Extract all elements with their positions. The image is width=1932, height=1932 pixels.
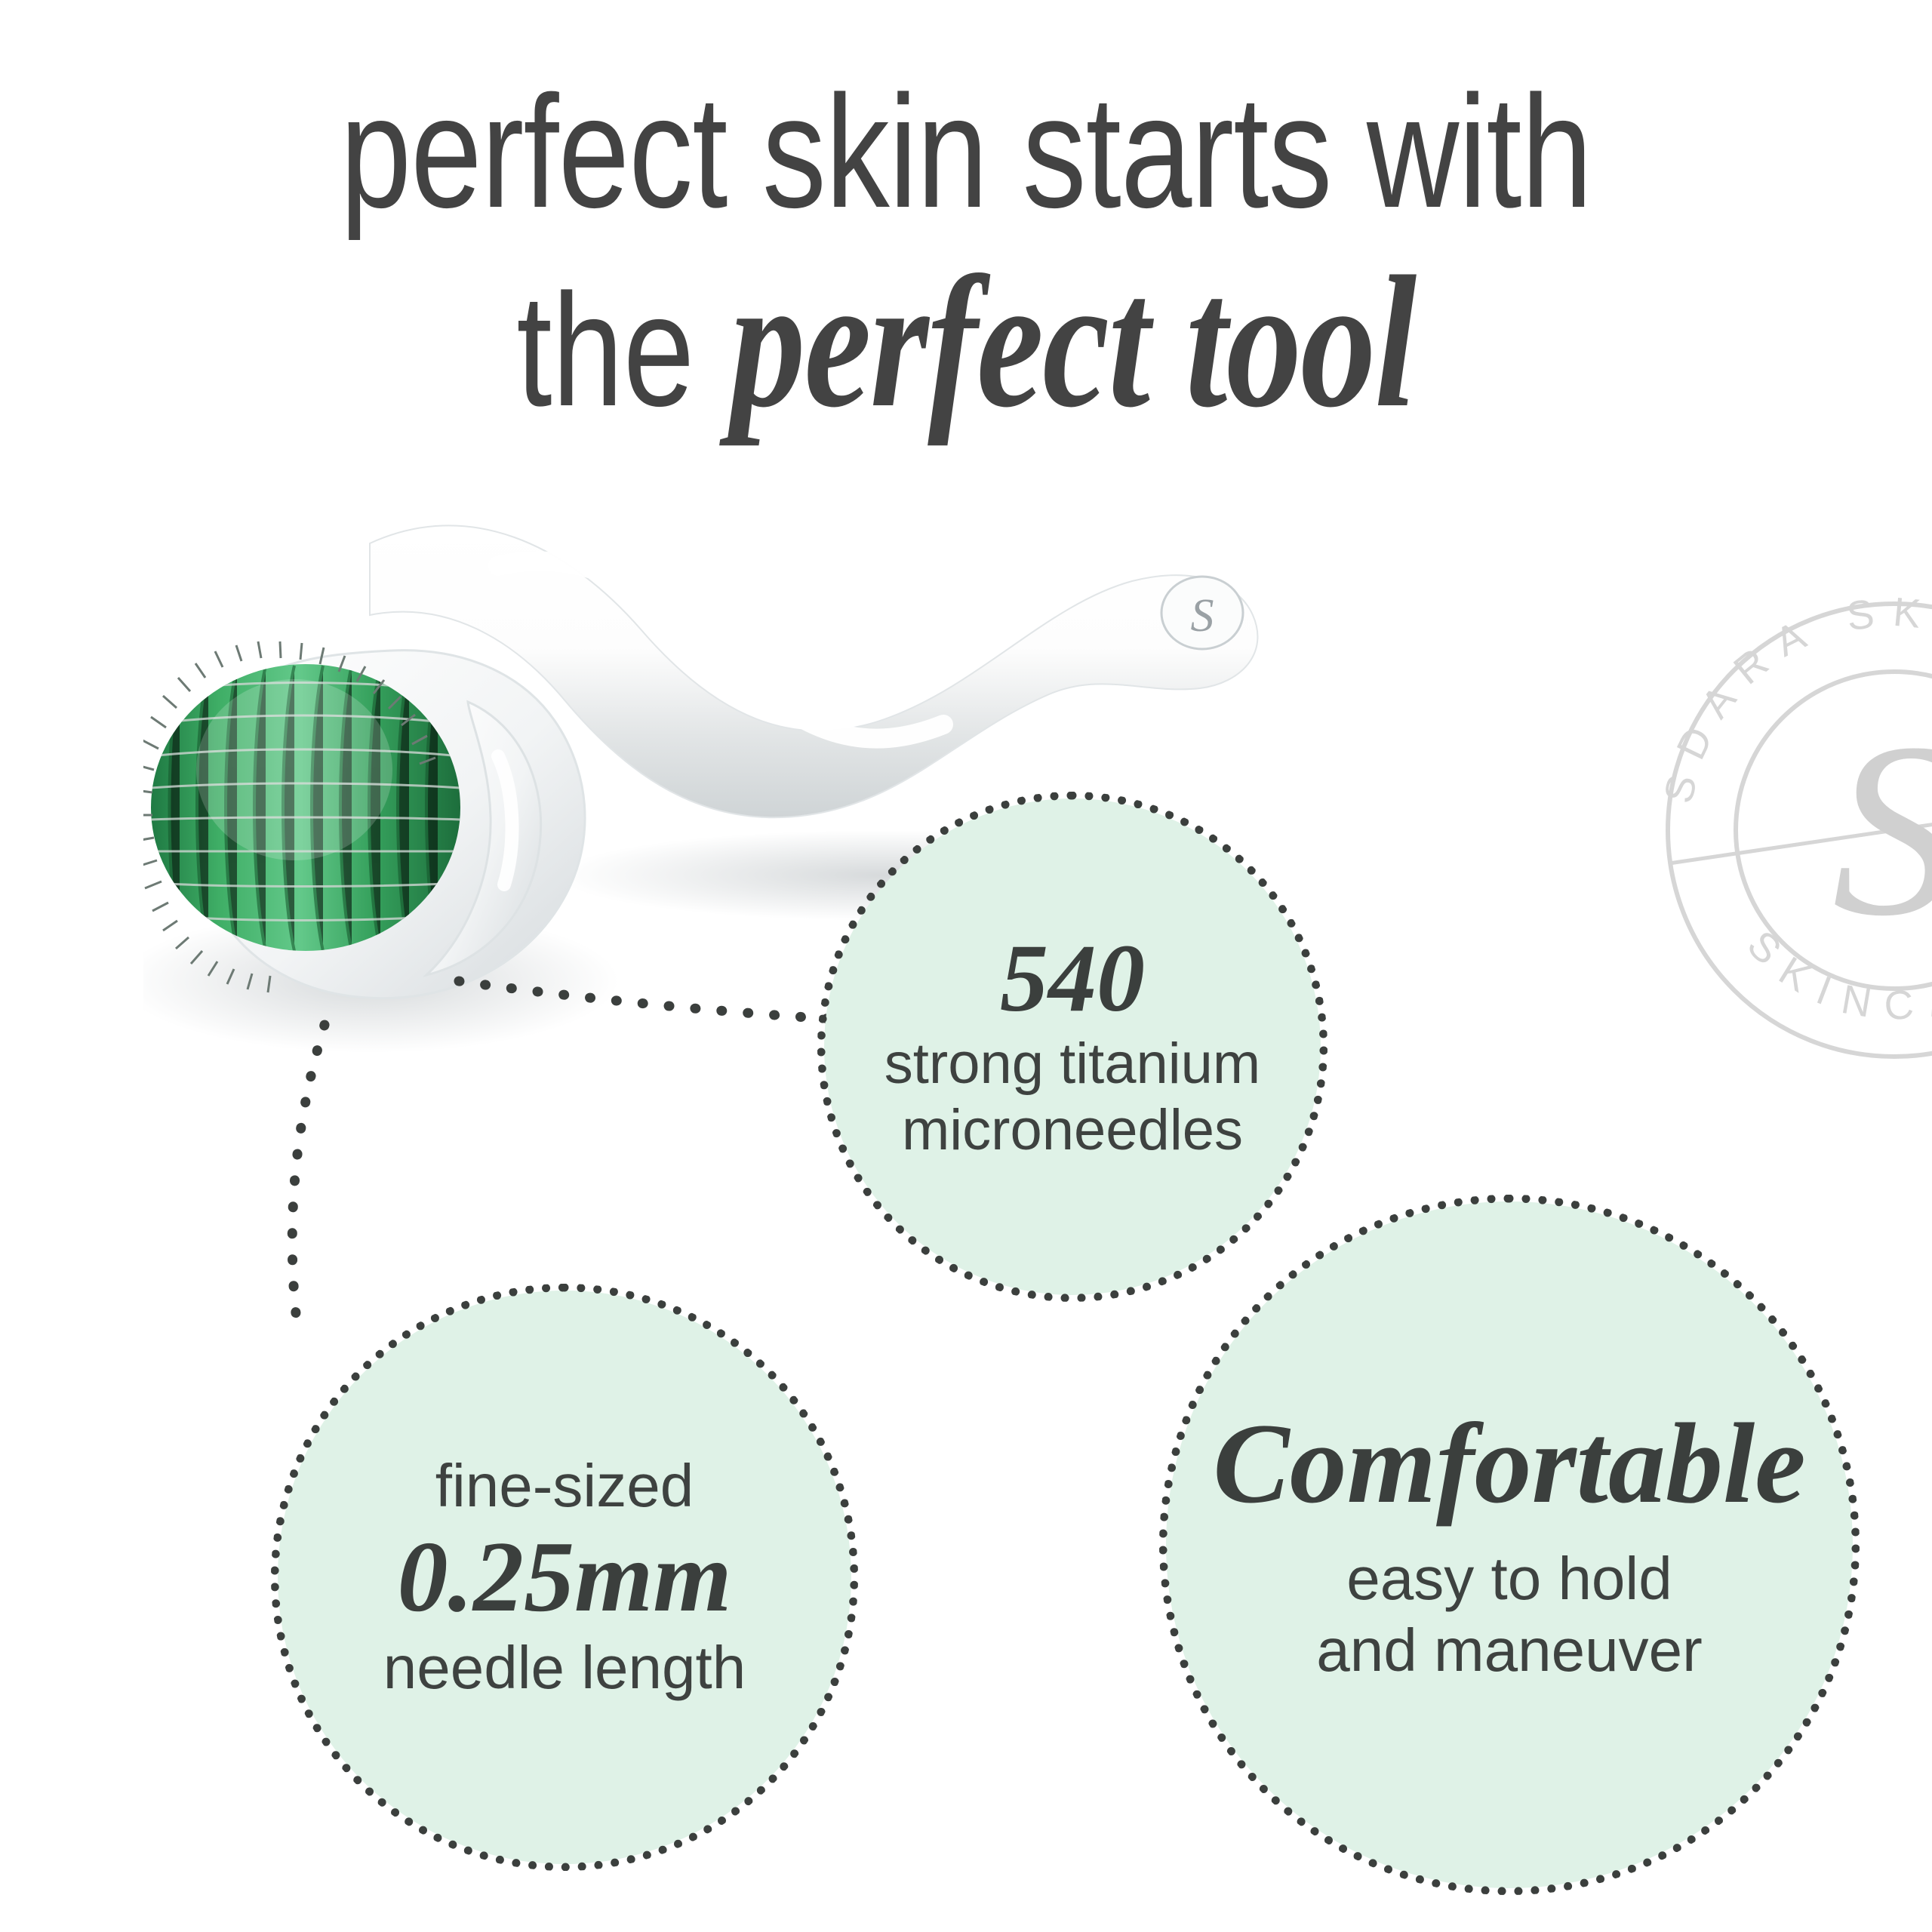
logo-outer-ring — [1668, 604, 1932, 1057]
logo-arc-text-bottom: SKINCARE — [1739, 922, 1932, 1029]
headline-line-2: the perfect tool — [193, 248, 1739, 437]
logo-monogram-s: S — [1832, 692, 1932, 968]
feature-circle-microneedles[interactable]: 540 strong titanium microneedles — [824, 798, 1321, 1295]
logo-arc-text-top: SDARA SKINCARE — [1656, 589, 1932, 808]
infographic-canvas: perfect skin starts with the perfect too… — [0, 0, 1932, 1932]
needle-drum — [151, 664, 460, 951]
logo-svg: SDARA SKINCARE SKINCARE S — [1623, 558, 1932, 1102]
headline-line-1: perfect skin starts with — [193, 72, 1739, 232]
logo-inner-ring — [1736, 672, 1932, 989]
logo-divider-line — [1669, 797, 1932, 863]
handle-emblem-s-icon: S — [1191, 590, 1214, 641]
headline-line-2-prefix: the — [516, 260, 730, 439]
sdara-skincare-logo-watermark: SDARA SKINCARE SKINCARE S — [1623, 558, 1932, 1102]
headline-line-2-emphasis: perfect tool — [730, 238, 1415, 447]
page-title: perfect skin starts with the perfect too… — [0, 72, 1932, 437]
dotted-ring-border — [1159, 1195, 1860, 1895]
drum-sheen — [196, 679, 392, 860]
feature-circle-needle-length[interactable]: fine-sized 0.25mm needle length — [278, 1291, 851, 1864]
dotted-ring-border — [817, 792, 1327, 1302]
dotted-ring-border — [271, 1284, 858, 1871]
feature-circle-comfortable[interactable]: Comfortable easy to hold and maneuver — [1166, 1201, 1853, 1888]
